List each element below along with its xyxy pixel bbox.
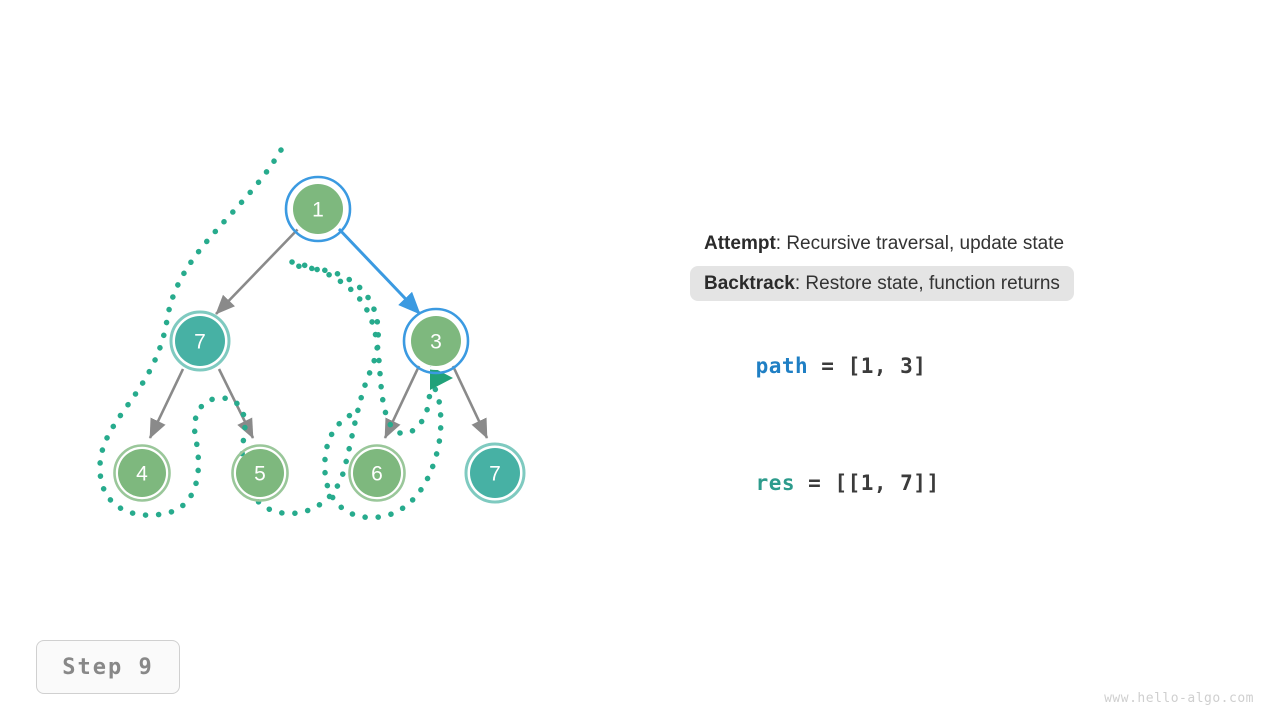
node-1-label: 1 (312, 199, 324, 222)
tree-node-4[interactable]: 4 (115, 446, 170, 501)
node-6-label: 6 (371, 463, 383, 486)
backtrack-line: Backtrack: Restore state, function retur… (690, 266, 1074, 302)
res-variable-name: res (756, 471, 795, 495)
res-variable-value: [[1, 7]] (834, 471, 939, 495)
step-badge: Step 9 (36, 640, 180, 694)
watermark: www.hello-algo.com (1104, 691, 1254, 706)
step-badge-label: Step 9 (62, 655, 153, 680)
node-7-right-label: 7 (489, 463, 501, 486)
res-equals: = (795, 471, 834, 495)
path-equals: = (808, 354, 847, 378)
edge-1-to-3 (338, 228, 420, 314)
tree-node-7-right[interactable]: 7 (466, 444, 524, 502)
tree-node-5[interactable]: 5 (233, 446, 288, 501)
path-variable-value: [1, 3] (848, 354, 927, 378)
edge-7-to-4 (150, 369, 183, 438)
node-3-label: 3 (430, 331, 442, 354)
tree-node-7-left[interactable]: 7 (171, 312, 229, 370)
attempt-description: : Recursive traversal, update state (776, 233, 1064, 254)
edge-1-to-7 (216, 228, 299, 314)
tree-nodes: 1 7 3 4 (115, 177, 525, 502)
attempt-line: Attempt: Recursive traversal, update sta… (690, 226, 1078, 262)
res-variable-line: res = [[1, 7]] (703, 447, 940, 519)
node-5-label: 5 (254, 463, 266, 486)
backtrack-keyword: Backtrack (704, 273, 795, 294)
info-panel: Attempt: Recursive traversal, update sta… (690, 226, 1210, 305)
diagram-stage: 1 7 3 4 (0, 0, 1280, 720)
tree-node-3[interactable]: 3 (404, 309, 468, 373)
edge-3-to-7r (453, 366, 487, 438)
watermark-text: www.hello-algo.com (1104, 691, 1254, 706)
path-variable-name: path (756, 354, 809, 378)
attempt-keyword: Attempt (704, 233, 776, 254)
node-4-label: 4 (136, 463, 148, 486)
backtrack-description: : Restore state, function returns (795, 273, 1060, 294)
binary-tree-diagram: 1 7 3 4 (0, 0, 640, 620)
tree-node-1[interactable]: 1 (286, 177, 350, 241)
node-7-left-label: 7 (194, 331, 206, 354)
path-variable-line: path = [1, 3] (703, 330, 926, 402)
tree-node-6[interactable]: 6 (350, 446, 405, 501)
